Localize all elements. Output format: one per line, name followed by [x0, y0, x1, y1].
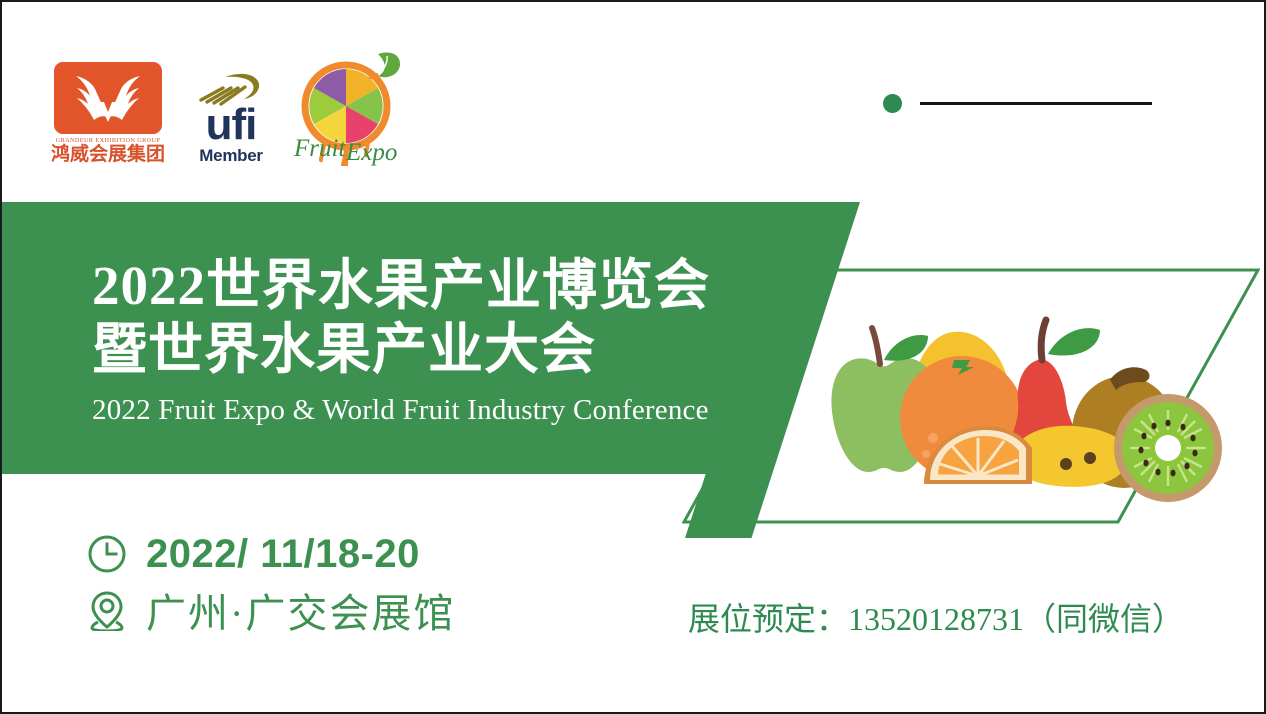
grandeur-logo-english: GRANDEUR EXHIBITION GROUP — [48, 137, 167, 144]
booth-booking-line: 展位预定：13520128731（同微信） — [688, 594, 1184, 640]
leaf-icon — [378, 52, 400, 77]
event-date-row: 2022/ 11/18-20 — [86, 526, 455, 582]
grandeur-logo-chinese: 鸿威会展集团 — [46, 145, 170, 166]
ufi-member-logo: ufi Member — [188, 70, 274, 166]
title-chinese-line2: 暨世界水果产业大会 — [92, 318, 752, 382]
poster-root: GRANDEUR EXHIBITION GROUP 鸿威会展集团 ufi Mem… — [0, 0, 1266, 714]
fruit-expo-script: Fruit — [293, 135, 346, 162]
kiwi-slice — [1114, 394, 1222, 502]
ufi-wordmark: ufi — [188, 106, 274, 144]
w-wings-mark — [54, 62, 162, 134]
location-pin-icon — [86, 589, 128, 631]
top-right-decoration — [883, 94, 1152, 113]
title-english: 2022 Fruit Expo & World Fruit Industry C… — [92, 394, 752, 427]
event-place-row: 广州·广交会展馆 — [86, 582, 455, 638]
fruit-assortment-illustration — [828, 298, 1224, 508]
grandeur-exhibition-group-logo: GRANDEUR EXHIBITION GROUP 鸿威会展集团 — [46, 62, 170, 166]
green-dot-icon — [883, 94, 902, 113]
headline-text-group: 2022世界水果产业博览会 暨世界水果产业大会 2022 Fruit Expo … — [92, 254, 752, 427]
event-place: 广州·广交会展馆 — [146, 581, 455, 639]
horizontal-rule — [920, 102, 1152, 105]
title-chinese-line1: 2022世界水果产业博览会 — [92, 254, 752, 318]
clock-icon — [86, 533, 128, 575]
event-date: 2022/ 11/18-20 — [146, 532, 420, 577]
fruit-expo-logo: Fruit Expo — [292, 48, 404, 166]
logo-bar: GRANDEUR EXHIBITION GROUP 鸿威会展集团 ufi Mem… — [46, 46, 404, 166]
ufi-member-label: Member — [188, 146, 274, 166]
event-info-block: 2022/ 11/18-20 广州·广交会展馆 — [86, 526, 455, 638]
svg-text:Expo: Expo — [345, 139, 397, 166]
